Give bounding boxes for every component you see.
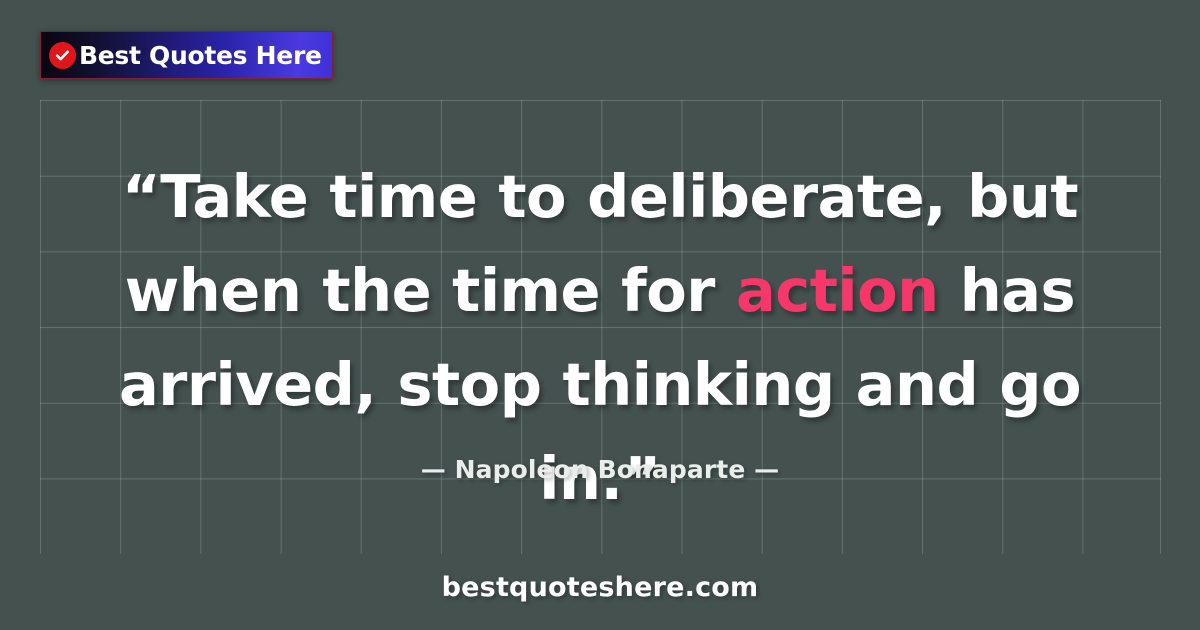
quote-highlight-word: action [736,256,939,325]
site-logo-badge[interactable]: Best Quotes Here [40,31,333,79]
quote-line-1: “Take time to deliberate, but [122,162,1078,231]
site-logo-text: Best Quotes Here [79,43,322,68]
quote-attribution: — Napoleon Bonaparte — [0,455,1200,484]
site-url-footer[interactable]: bestquoteshere.com [0,572,1200,603]
quote-line-2-before: when the time for [125,256,736,325]
check-circle-icon [49,42,76,69]
quote-line-3: arrived, stop thinking and go in.” [119,350,1081,513]
quote-line-2-after: has [939,256,1075,325]
quote-poster: Best Quotes Here “Take time to deliberat… [0,0,1200,630]
